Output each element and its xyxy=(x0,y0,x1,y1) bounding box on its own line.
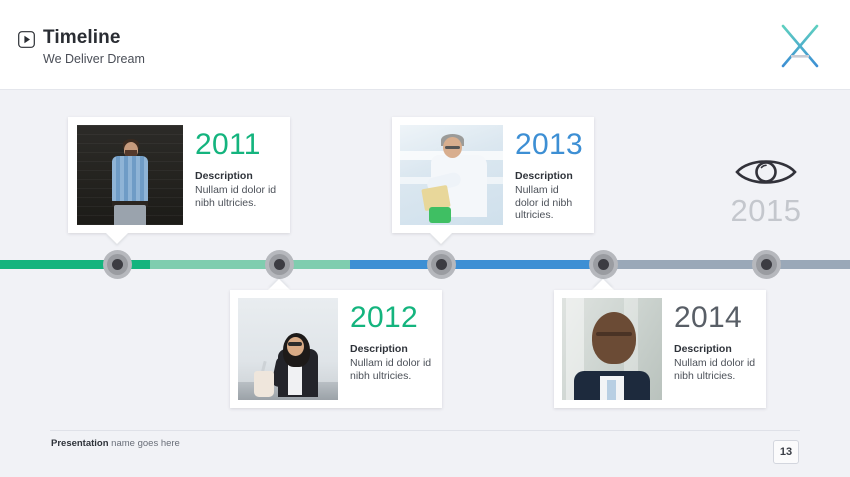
timeline-segment-3 xyxy=(350,260,605,269)
card-body-2013: 2013 Description Nullam id dolor id nibh… xyxy=(503,117,594,233)
card-body-2011: 2011 Description Nullam id dolor id nibh… xyxy=(183,117,290,233)
card-year-2011: 2011 xyxy=(195,128,280,161)
eye-icon xyxy=(706,155,826,194)
card-body-2014: 2014 Description Nullam id dolor id nibh… xyxy=(662,290,766,408)
card-desc-title-2012: Description xyxy=(350,343,432,356)
page-title: Timeline xyxy=(43,27,145,48)
timeline-slide: Timeline We Deliver Dream xyxy=(0,0,850,477)
timeline-marker-2011[interactable] xyxy=(103,250,132,279)
footer-presentation-name: Presentation name goes here xyxy=(51,438,211,450)
timeline-card-2014[interactable]: 2014 Description Nullam id dolor id nibh… xyxy=(554,290,766,408)
footer-presentation-bold: Presentation xyxy=(51,438,109,449)
timeline-marker-2012[interactable] xyxy=(265,250,294,279)
timeline-card-2013[interactable]: 2013 Description Nullam id dolor id nibh… xyxy=(392,117,594,233)
footer-presentation-rest: name goes here xyxy=(109,438,180,449)
scientist-in-lab-photo xyxy=(400,125,503,225)
card-notch-2011 xyxy=(106,233,128,244)
play-button-icon xyxy=(18,31,35,48)
card-desc-title-2011: Description xyxy=(195,170,280,183)
timeline-marker-2015[interactable] xyxy=(752,250,781,279)
card-year-2013: 2013 xyxy=(515,128,584,161)
title-block: Timeline We Deliver Dream xyxy=(18,27,145,67)
future-milestone-2015: 2015 xyxy=(706,155,826,228)
timeline-marker-2014[interactable] xyxy=(589,250,618,279)
card-year-2014: 2014 xyxy=(674,301,756,334)
card-desc-text-2014: Nullam id dolor id nibh ultricies. xyxy=(674,357,756,382)
card-body-2012: 2012 Description Nullam id dolor id nibh… xyxy=(338,290,442,408)
card-notch-2012 xyxy=(268,279,290,290)
card-notch-2013 xyxy=(430,233,452,244)
card-year-2012: 2012 xyxy=(350,301,432,334)
card-desc-text-2011: Nullam id dolor id nibh ultricies. xyxy=(195,184,280,209)
page-subtitle: We Deliver Dream xyxy=(43,51,145,67)
future-year-label: 2015 xyxy=(731,193,802,228)
footer-divider xyxy=(50,430,800,431)
x-logo-icon xyxy=(778,22,822,70)
page-number: 13 xyxy=(773,440,799,464)
woman-with-drink-photo xyxy=(238,298,338,400)
timeline-marker-2013[interactable] xyxy=(427,250,456,279)
card-desc-title-2014: Description xyxy=(674,343,756,356)
card-desc-text-2012: Nullam id dolor id nibh ultricies. xyxy=(350,357,432,382)
timeline-segment-2 xyxy=(150,260,350,269)
timeline-segment-4 xyxy=(605,260,850,269)
man-in-plaid-shirt-photo xyxy=(77,125,183,225)
card-desc-text-2013: Nullam id dolor id nibh ultricies. xyxy=(515,184,584,222)
slide-header: Timeline We Deliver Dream xyxy=(0,0,850,90)
card-desc-title-2013: Description xyxy=(515,170,584,183)
timeline-card-2011[interactable]: 2011 Description Nullam id dolor id nibh… xyxy=(68,117,290,233)
man-in-suit-photo xyxy=(562,298,662,400)
timeline-card-2012[interactable]: 2012 Description Nullam id dolor id nibh… xyxy=(230,290,442,408)
card-notch-2014 xyxy=(592,279,614,290)
header-divider xyxy=(0,89,850,90)
